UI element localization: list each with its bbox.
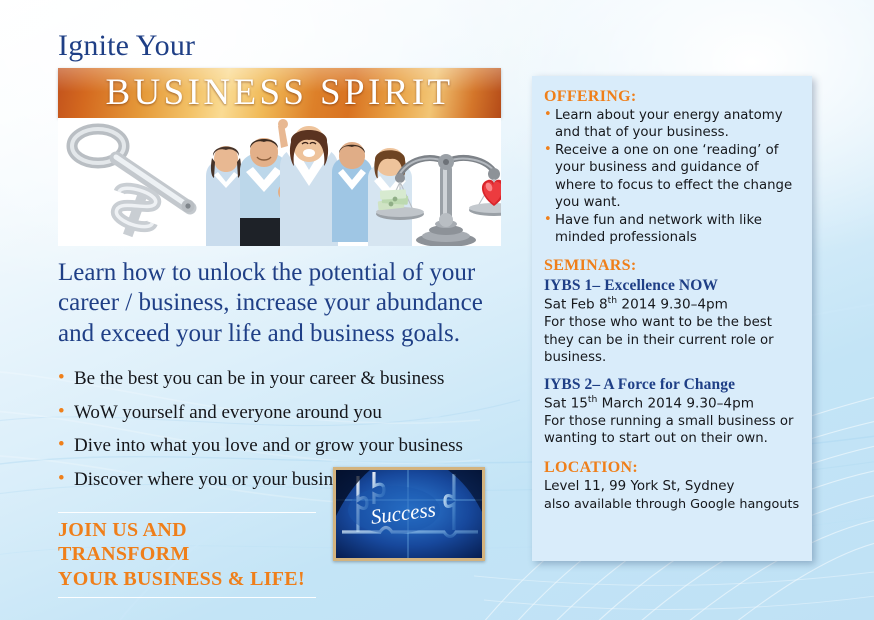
cta-text: JOIN US AND TRANSFORM YOUR BUSINESS & LI… [58, 513, 316, 597]
list-item: Have fun and network with like minded pr… [544, 212, 802, 246]
cta-line-1: JOIN US AND TRANSFORM [58, 518, 316, 567]
list-item: Be the best you can be in your career & … [58, 365, 510, 394]
seminars-heading: SEMINARS: [544, 257, 802, 275]
spacer [544, 367, 802, 374]
location-address: Level 11, 99 York St, Sydney [544, 478, 802, 496]
location-heading: LOCATION: [544, 459, 802, 477]
seminar-description: For those who want to be the best they c… [544, 314, 802, 366]
seminar-date-prefix: Sat Feb 8 [544, 297, 608, 313]
flyer-page: Ignite Your BUSINESS SPIRIT [0, 0, 874, 620]
list-item: Receive a one on one ‘reading’ of your b… [544, 142, 802, 211]
seminar-item-2: IYBS 2– A Force for Change Sat 15th Marc… [544, 376, 802, 448]
seminar-title: IYBS 1– Excellence NOW [544, 277, 802, 295]
seminar-item-1: IYBS 1– Excellence NOW Sat Feb 8th 2014 … [544, 277, 802, 366]
lead-paragraph: Learn how to unlock the potential of you… [58, 258, 510, 350]
cta-divider-bottom [58, 597, 316, 598]
success-puzzle-image: Success [333, 467, 485, 561]
business-spirit-banner: BUSINESS SPIRIT [58, 68, 501, 118]
banner-title-text: BUSINESS SPIRIT [105, 71, 453, 114]
call-to-action-block: JOIN US AND TRANSFORM YOUR BUSINESS & LI… [58, 512, 316, 598]
seminar-date-suffix: 2014 9.30–4pm [617, 297, 728, 313]
location-note: also available through Google hangouts [544, 496, 802, 513]
page-title: Ignite Your [58, 30, 510, 62]
list-item: WoW yourself and everyone around you [58, 399, 510, 428]
seminar-date-ordinal: th [608, 295, 617, 306]
montage-artwork [58, 118, 501, 246]
offering-list: Learn about your energy anatomy and that… [544, 107, 802, 246]
money-stack [378, 189, 409, 210]
info-panel: OFFERING: Learn about your energy anatom… [532, 76, 812, 561]
seminar-date-prefix: Sat 15 [544, 395, 588, 411]
list-item: Learn about your energy anatomy and that… [544, 107, 802, 141]
puzzle-artwork: Success [336, 470, 482, 558]
seminar-date: Sat 15th March 2014 9.30–4pm [544, 394, 802, 413]
seminar-title: IYBS 2– A Force for Change [544, 376, 802, 394]
photo-montage [58, 118, 501, 246]
cta-line-2: YOUR BUSINESS & LIFE! [58, 567, 316, 591]
seminar-description: For those running a small business or wa… [544, 413, 802, 448]
seminar-date-suffix: March 2014 9.30–4pm [597, 395, 754, 411]
offering-heading: OFFERING: [544, 88, 802, 106]
seminar-date: Sat Feb 8th 2014 9.30–4pm [544, 295, 802, 314]
seminar-date-ordinal: th [588, 394, 597, 405]
list-item: Dive into what you love and or grow your… [58, 432, 510, 461]
